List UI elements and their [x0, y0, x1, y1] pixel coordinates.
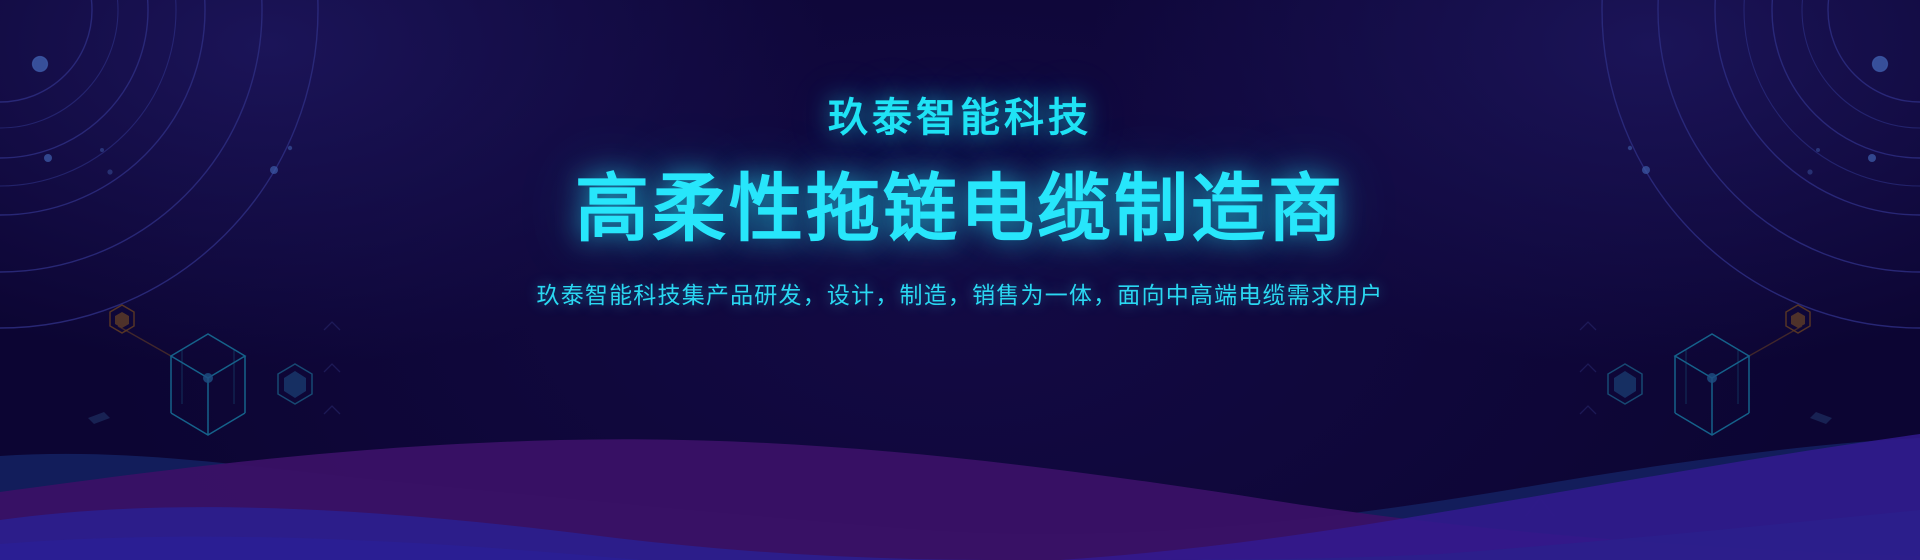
- wave-decoration: [0, 360, 1920, 560]
- hero-banner: 玖泰智能科技 高柔性拖链电缆制造商 玖泰智能科技集产品研发，设计，制造，销售为一…: [0, 0, 1920, 560]
- banner-tagline: 玖泰智能科技集产品研发，设计，制造，销售为一体，面向中高端电缆需求用户: [537, 284, 1384, 307]
- concentric-arcs-right: [1520, 0, 1920, 330]
- banner-eyebrow: 玖泰智能科技: [828, 98, 1092, 138]
- concentric-arcs-left: [0, 0, 400, 330]
- banner-headline: 高柔性拖链电缆制造商: [575, 172, 1345, 246]
